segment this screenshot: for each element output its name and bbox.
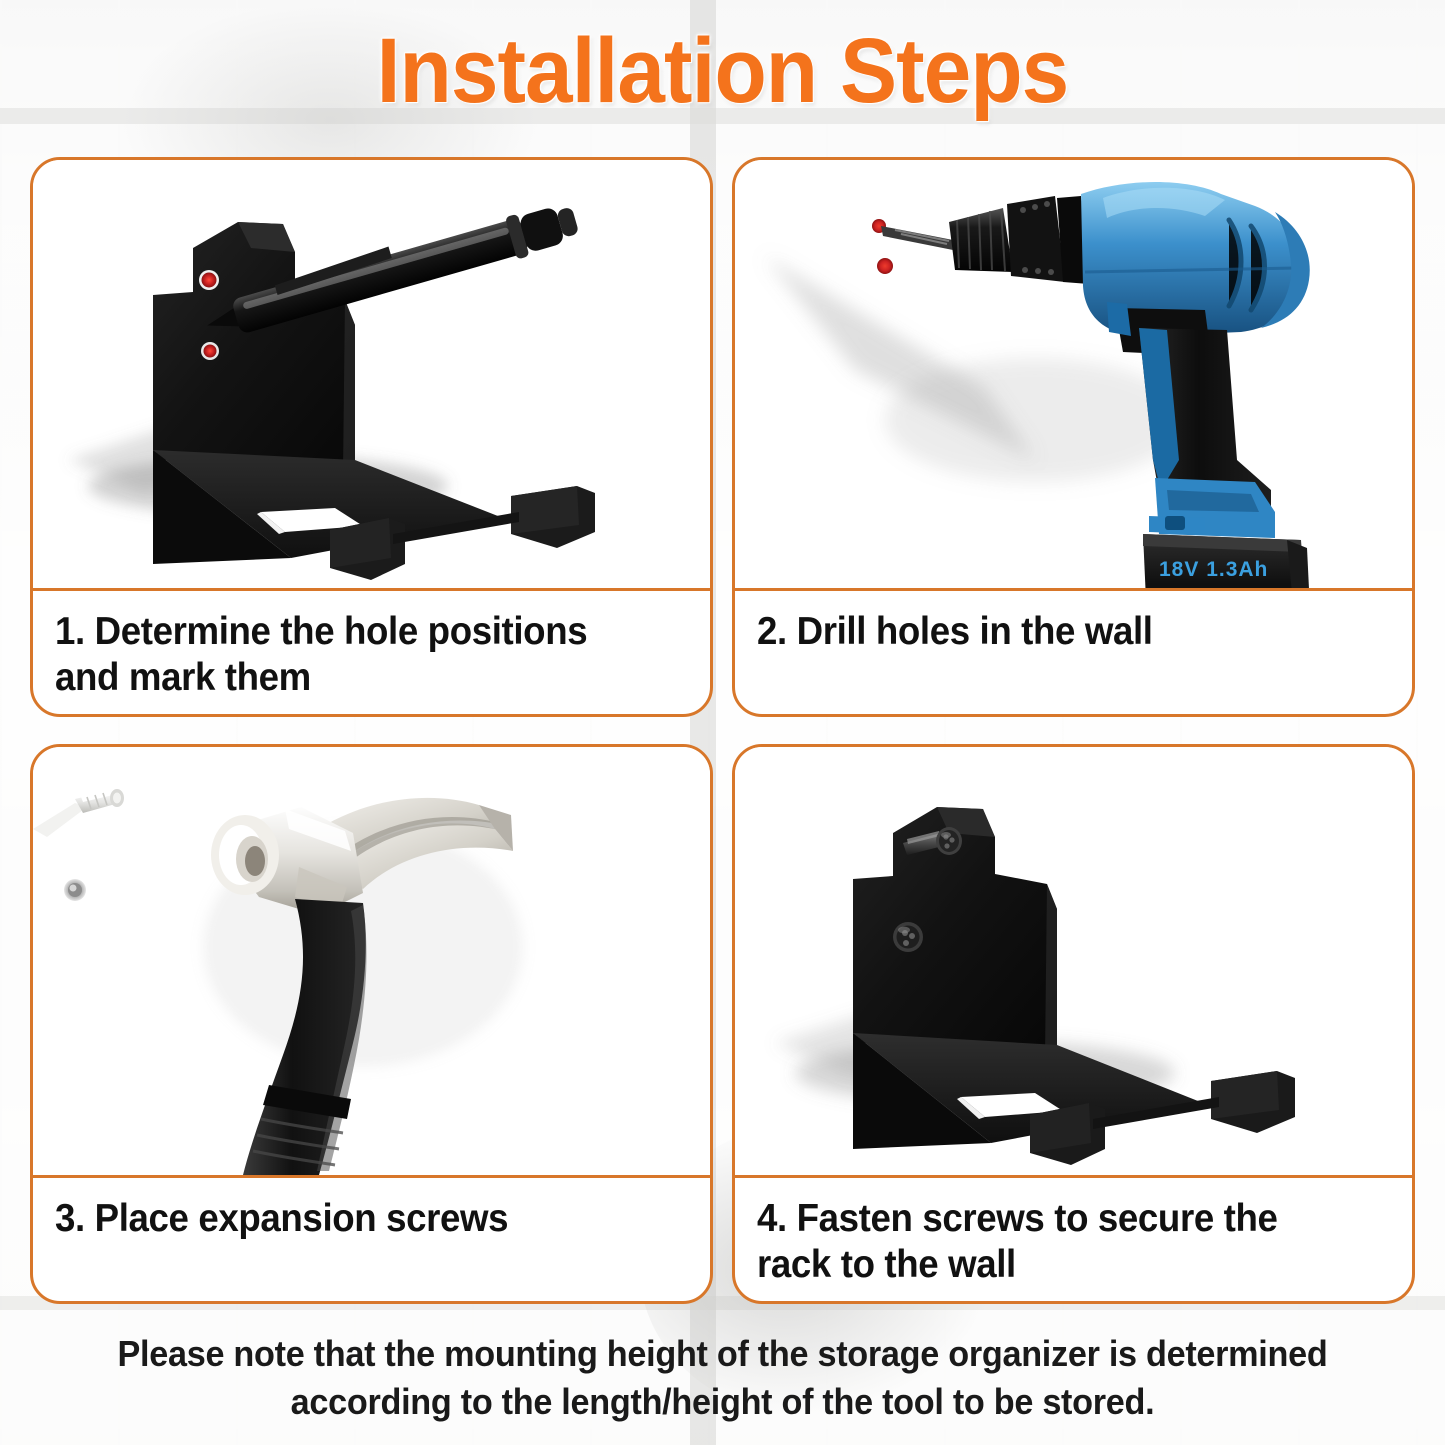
infographic-page: Installation Steps [0, 0, 1445, 1445]
footer-note-text: Please note that the mounting height of … [74, 1330, 1371, 1426]
step-3-caption: 3. Place expansion screws [33, 1178, 710, 1301]
lower-screw [893, 922, 923, 952]
step-card-3: 3. Place expansion screws [30, 744, 713, 1304]
hammer-and-anchors-icon [33, 747, 710, 1175]
bracket-with-marker-pen-icon [33, 160, 710, 588]
step-4-caption-text: 4. Fasten screws to secure the rack to t… [757, 1196, 1354, 1288]
steps-grid: 1. Determine the hole positions and mark… [30, 157, 1415, 1304]
step-4-caption: 4. Fasten screws to secure the rack to t… [735, 1178, 1412, 1301]
step-4-figure [735, 747, 1412, 1175]
mounted-bracket-icon [735, 747, 1412, 1175]
wall-anchor-lower [64, 879, 86, 901]
step-2-caption-text: 2. Drill holes in the wall [757, 609, 1153, 655]
wall-mark-lower [877, 258, 893, 274]
step-card-4: 4. Fasten screws to secure the rack to t… [732, 744, 1415, 1304]
cordless-drill-icon: 18V 1.3Ah LITHIUM-ION [735, 160, 1412, 588]
step-1-caption: 1. Determine the hole positions and mark… [33, 591, 710, 714]
step-1-caption-text: 1. Determine the hole positions and mark… [55, 609, 652, 701]
step-card-1: 1. Determine the hole positions and mark… [30, 157, 713, 717]
battery-voltage-label: 18V 1.3Ah [1159, 558, 1268, 581]
footer-note: Please note that the mounting height of … [40, 1330, 1405, 1426]
step-card-2: 18V 1.3Ah LITHIUM-ION 2. Drill holes in … [732, 157, 1415, 717]
page-title: Installation Steps [51, 20, 1395, 122]
step-3-figure [33, 747, 710, 1175]
step-3-caption-text: 3. Place expansion screws [55, 1196, 508, 1242]
step-1-figure [33, 160, 710, 588]
battery-chemistry-label: LITHIUM-ION [1159, 586, 1282, 588]
step-2-figure: 18V 1.3Ah LITHIUM-ION [735, 160, 1412, 588]
step-2-caption: 2. Drill holes in the wall [735, 591, 1412, 714]
wall-anchor-upper [33, 789, 124, 837]
